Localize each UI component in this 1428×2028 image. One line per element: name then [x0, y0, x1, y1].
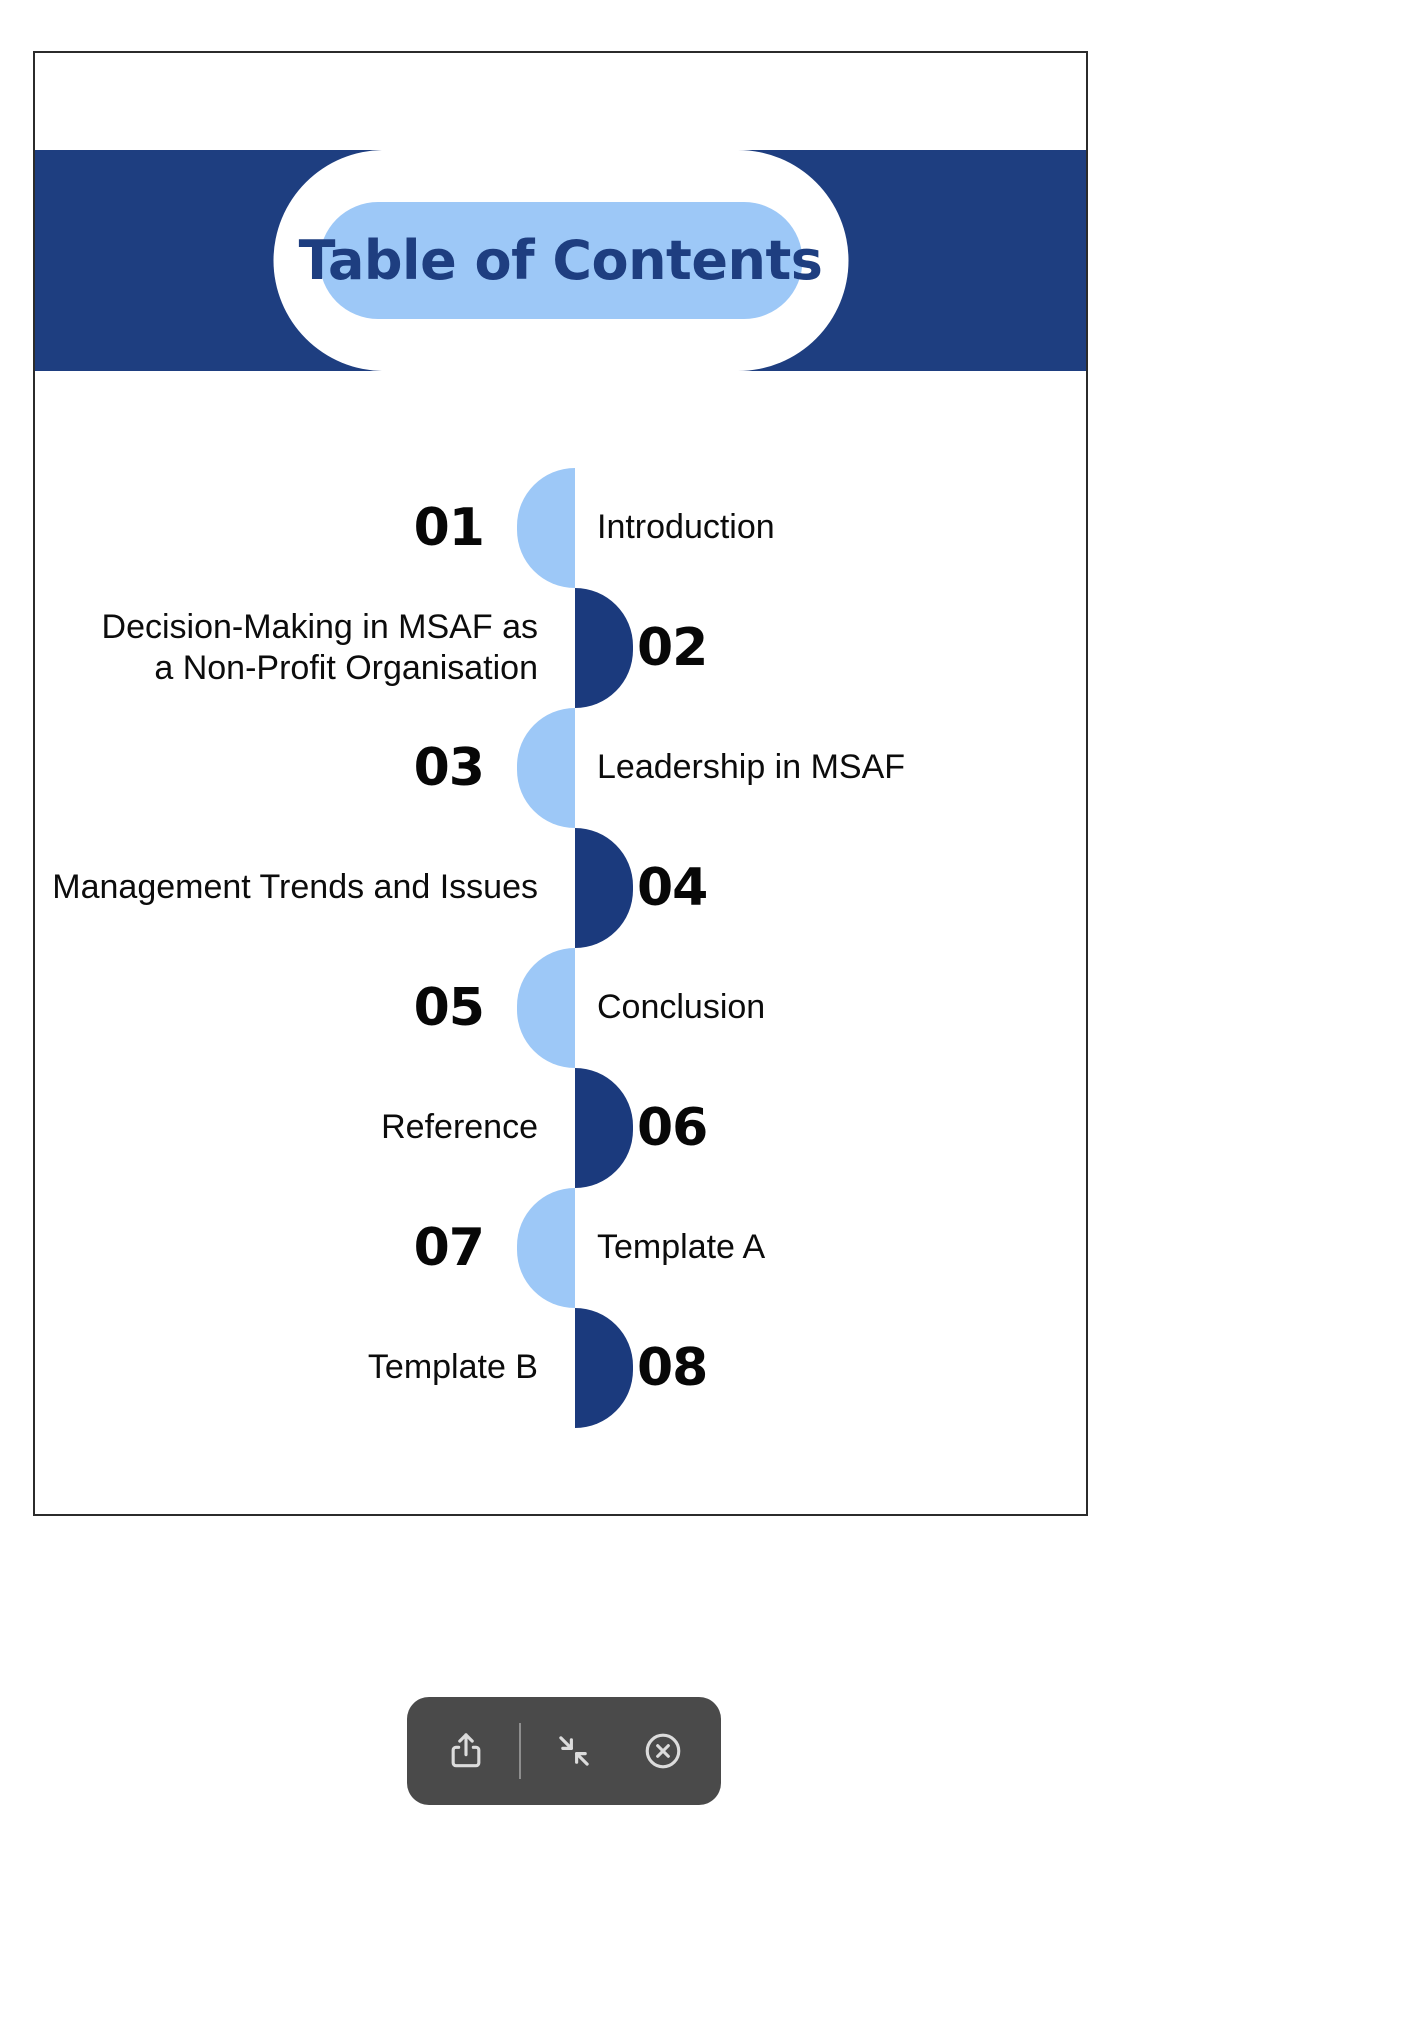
- toc-item-number: 08: [637, 1338, 707, 1398]
- toc-item-label: Leadership in MSAF: [597, 747, 905, 788]
- toc-item-number: 04: [637, 858, 707, 918]
- toc-row-right: 02: [575, 588, 707, 708]
- toc-item-label: Introduction: [597, 507, 775, 548]
- toc-item-number: 03: [414, 738, 484, 798]
- toc-row[interactable]: Decision-Making in MSAF as a Non-Profit …: [35, 588, 1086, 708]
- close-button[interactable]: [627, 1715, 699, 1787]
- header-notch: Table of Contents: [273, 150, 848, 371]
- toc-item-number: 06: [637, 1098, 707, 1158]
- toc-item-number: 01: [414, 498, 484, 558]
- toc-item-label: Template B: [368, 1347, 538, 1388]
- toc-row[interactable]: 03Leadership in MSAF: [35, 708, 1086, 828]
- toc-row-left: 07: [414, 1188, 546, 1308]
- toc-row[interactable]: 01Introduction: [35, 468, 1086, 588]
- toc-list: 01IntroductionDecision-Making in MSAF as…: [35, 468, 1086, 1428]
- toc-row[interactable]: 07Template A: [35, 1188, 1086, 1308]
- title-pill: Table of Contents: [319, 202, 802, 319]
- toc-row-right: Template A: [575, 1188, 765, 1308]
- minimize-button[interactable]: [538, 1715, 610, 1787]
- toc-item-label: Decision-Making in MSAF as a Non-Profit …: [102, 607, 538, 690]
- toolbar-divider: [519, 1723, 521, 1779]
- toc-row-right: 08: [575, 1308, 707, 1428]
- slide-page: Table of Contents 01IntroductionDecision…: [33, 51, 1088, 1516]
- toc-item-number: 05: [414, 978, 484, 1038]
- share-icon: [444, 1729, 488, 1773]
- toc-item-number: 02: [637, 618, 707, 678]
- toc-item-label: Management Trends and Issues: [52, 867, 538, 908]
- toc-item-number: 07: [414, 1218, 484, 1278]
- toc-item-label: Reference: [381, 1107, 538, 1148]
- toc-row-right: Introduction: [575, 468, 775, 588]
- toc-row-left: 01: [414, 468, 546, 588]
- toc-row-left: Management Trends and Issues: [52, 828, 546, 948]
- toc-row-left: Decision-Making in MSAF as a Non-Profit …: [102, 588, 546, 708]
- toc-row-left: 03: [414, 708, 546, 828]
- toc-row[interactable]: 05Conclusion: [35, 948, 1086, 1068]
- page-title: Table of Contents: [299, 229, 823, 292]
- toc-item-label: Template A: [597, 1227, 765, 1268]
- toc-row[interactable]: Management Trends and Issues04: [35, 828, 1086, 948]
- floating-toolbar: [407, 1697, 721, 1805]
- toc-row[interactable]: Template B08: [35, 1308, 1086, 1428]
- close-icon: [641, 1729, 685, 1773]
- toc-item-label: Conclusion: [597, 987, 765, 1028]
- share-button[interactable]: [430, 1715, 502, 1787]
- toc-row-left: 05: [414, 948, 546, 1068]
- toc-row-left: Reference: [381, 1068, 546, 1188]
- minimize-icon: [553, 1730, 595, 1772]
- toc-row-right: Leadership in MSAF: [575, 708, 905, 828]
- toc-row[interactable]: Reference06: [35, 1068, 1086, 1188]
- toc-row-right: 06: [575, 1068, 707, 1188]
- toc-row-right: Conclusion: [575, 948, 765, 1068]
- toc-row-right: 04: [575, 828, 707, 948]
- toc-row-left: Template B: [368, 1308, 546, 1428]
